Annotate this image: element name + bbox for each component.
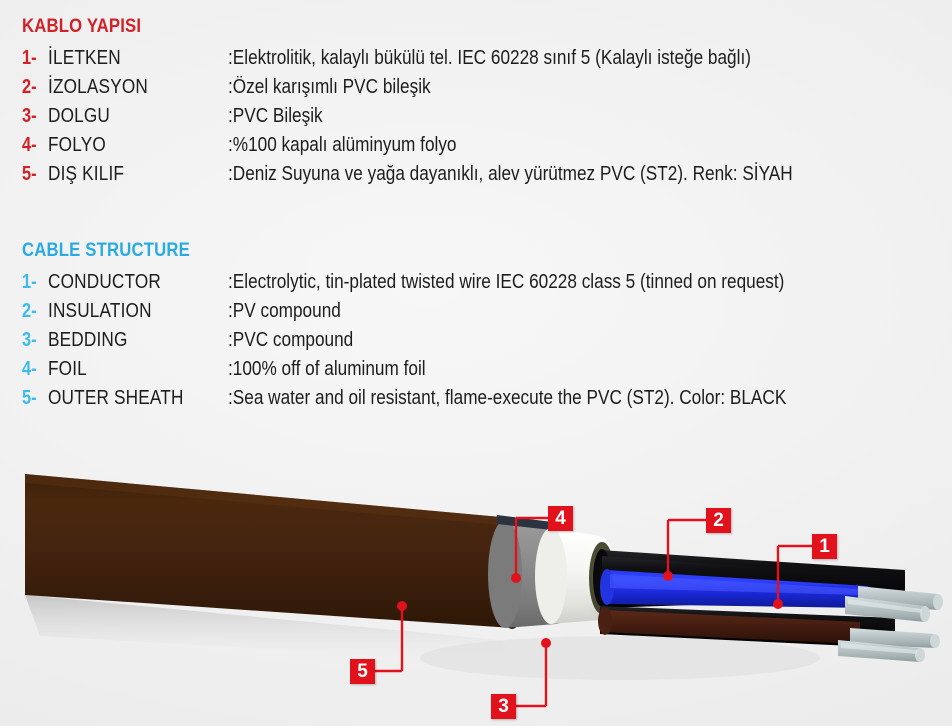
turkish-row-5-label: DIŞ KILIF: [48, 160, 203, 189]
conductor-upper-front-tip: [920, 606, 930, 622]
english-row-3-value: :PVC compound: [228, 326, 353, 355]
english-row-4-number: 4-: [22, 355, 43, 384]
turkish-row-3-value: :PVC Bileşik: [228, 102, 323, 131]
turkish-row-2-value: :Özel karışımlı PVC bileşik: [228, 73, 431, 102]
turkish-row-3-label: DOLGU: [48, 102, 203, 131]
turkish-row-1-value: :Elektrolitik, kalaylı bükülü tel. IEC 6…: [228, 44, 751, 73]
turkish-row-2-label: İZOLASYON: [48, 73, 203, 102]
turkish-row-4: 4- FOLYO :%100 kapalı alüminyum folyo: [0, 131, 952, 160]
lower-core-brown-end: [598, 607, 612, 635]
cable-end-shadow: [420, 636, 820, 680]
turkish-row-3-number: 3-: [22, 102, 43, 131]
english-row-2-value: :PV compound: [228, 297, 341, 326]
callout-label-5[interactable]: 5: [350, 659, 375, 684]
callout-dot-4: [511, 573, 521, 583]
turkish-row-5-value: :Deniz Suyuna ve yağa dayanıklı, alev yü…: [228, 160, 793, 189]
callout-dot-2: [663, 571, 673, 581]
conductor-lower-back-tip: [930, 634, 940, 648]
callout-dot-1: [773, 599, 783, 609]
callout-label-3[interactable]: 3: [491, 694, 516, 719]
turkish-row-4-value: :%100 kapalı alüminyum folyo: [228, 131, 457, 160]
english-row-3-number: 3-: [22, 326, 43, 355]
turkish-row-3: 3- DOLGU :PVC Bileşik: [0, 102, 952, 131]
callout-dot-3: [541, 638, 551, 648]
turkish-row-2: 2- İZOLASYON :Özel karışımlı PVC bileşik: [0, 73, 952, 102]
turkish-spec-block: KABLO YAPISI 1- İLETKEN :Elektrolitik, k…: [0, 16, 952, 189]
english-spec-block: CABLE STRUCTURE 1- CONDUCTOR :Electrolyt…: [0, 240, 952, 413]
english-row-4-value: :100% off of aluminum foil: [228, 355, 426, 384]
english-row-5: 5- OUTER SHEATH :Sea water and oil resis…: [0, 384, 952, 413]
callout-label-1[interactable]: 1: [812, 534, 837, 559]
turkish-row-4-number: 4-: [22, 131, 43, 160]
turkish-row-5: 5- DIŞ KILIF :Deniz Suyuna ve yağa dayan…: [0, 160, 952, 189]
english-row-5-label: OUTER SHEATH: [48, 384, 203, 413]
turkish-row-1-number: 1-: [22, 44, 43, 73]
turkish-row-1-label: İLETKEN: [48, 44, 203, 73]
turkish-row-5-number: 5-: [22, 160, 43, 189]
cable-cutaway-illustration: 4 2 1 3 5: [0, 458, 952, 726]
bedding-inner-rim: [535, 528, 567, 624]
conductor-upper-back-tip: [933, 594, 943, 610]
turkish-heading: KABLO YAPISI: [22, 16, 840, 38]
english-row-4-label: FOIL: [48, 355, 203, 384]
english-row-1-value: :Electrolytic, tin-plated twisted wire I…: [228, 268, 784, 297]
english-heading: CABLE STRUCTURE: [22, 240, 840, 262]
callout-dot-5: [397, 601, 407, 611]
english-row-1-number: 1-: [22, 268, 43, 297]
english-row-2-number: 2-: [22, 297, 43, 326]
english-row-3-label: BEDDING: [48, 326, 203, 355]
english-row-3: 3- BEDDING :PVC compound: [0, 326, 952, 355]
callout-label-2[interactable]: 2: [706, 508, 731, 533]
turkish-row-4-label: FOLYO: [48, 131, 203, 160]
turkish-row-1: 1- İLETKEN :Elektrolitik, kalaylı bükülü…: [0, 44, 952, 73]
english-row-5-value: :Sea water and oil resistant, flame-exec…: [228, 384, 786, 413]
cable-structure-datasheet: KABLO YAPISI 1- İLETKEN :Elektrolitik, k…: [0, 0, 952, 726]
english-row-2: 2- INSULATION :PV compound: [0, 297, 952, 326]
english-row-1-label: CONDUCTOR: [48, 268, 203, 297]
conductor-group-lower: [838, 628, 940, 662]
english-row-1: 1- CONDUCTOR :Electrolytic, tin-plated t…: [0, 268, 952, 297]
callout-label-4[interactable]: 4: [548, 506, 573, 531]
english-row-2-label: INSULATION: [48, 297, 203, 326]
turkish-row-2-number: 2-: [22, 73, 43, 102]
english-row-4: 4- FOIL :100% off of aluminum foil: [0, 355, 952, 384]
english-row-5-number: 5-: [22, 384, 43, 413]
